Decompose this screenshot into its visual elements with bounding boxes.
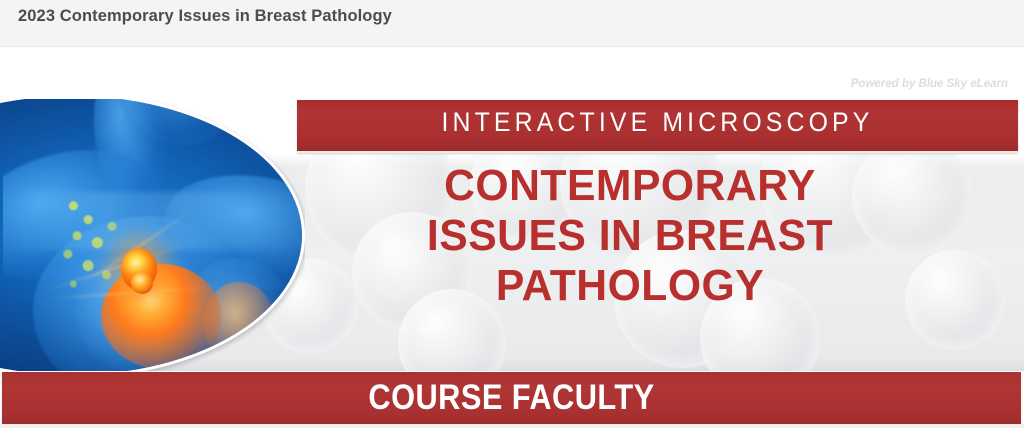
course-faculty-ribbon: COURSE FACULTY	[2, 372, 1021, 424]
course-title-line-3: PATHOLOGY	[310, 261, 950, 311]
banner-bottom-strip	[0, 424, 1024, 428]
powered-by-strip: Powered by Blue Sky eLearn	[0, 48, 1024, 99]
hero-oval-frame	[0, 99, 305, 371]
hero-clip	[3, 99, 305, 371]
page-title: 2023 Contemporary Issues in Breast Patho…	[18, 7, 392, 26]
anatomy-arm-highlight	[3, 192, 305, 250]
powered-by-label: Powered by Blue Sky eLearn	[851, 78, 1008, 90]
anatomy-tumour-secondary	[131, 272, 153, 294]
course-title: CONTEMPORARY ISSUES IN BREAST PATHOLOGY	[310, 161, 950, 311]
page-header: 2023 Contemporary Issues in Breast Patho…	[0, 0, 1024, 47]
course-banner: INTERACTIVE MICROSCOPY CONTEMPORARY ISSU…	[0, 99, 1024, 428]
course-title-line-2: ISSUES IN BREAST	[310, 211, 950, 261]
breast-anatomy-illustration	[0, 99, 305, 371]
interactive-microscopy-label: INTERACTIVE MICROSCOPY	[326, 107, 989, 138]
course-title-line-1: CONTEMPORARY	[310, 161, 950, 211]
course-faculty-label: COURSE FACULTY	[63, 378, 960, 418]
interactive-microscopy-ribbon: INTERACTIVE MICROSCOPY	[297, 100, 1018, 153]
